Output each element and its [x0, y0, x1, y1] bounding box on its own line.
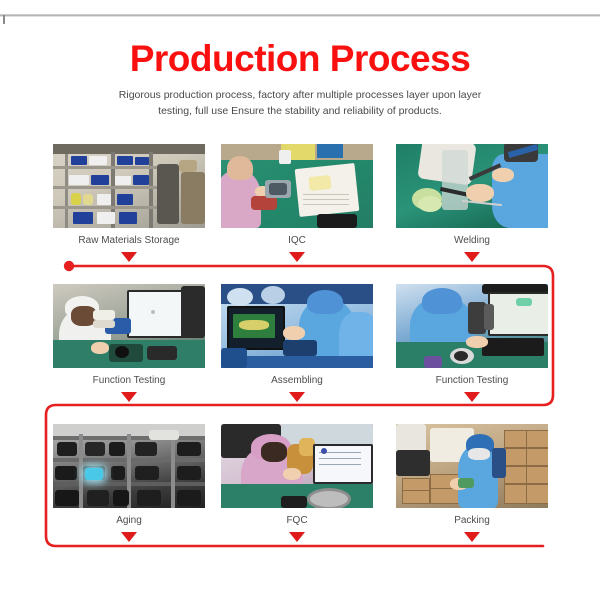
scene-function-testing-2	[396, 284, 548, 368]
process-step-welding[interactable]: Welding	[396, 144, 548, 262]
subtitle-line-2: testing, full use Ensure the stability a…	[158, 105, 442, 117]
step-photo	[221, 144, 373, 228]
step-label: Assembling	[221, 375, 373, 387]
scene-aging-racks	[53, 424, 205, 508]
process-step-aging[interactable]: Aging	[53, 424, 205, 542]
down-triangle-icon	[121, 252, 137, 262]
step-label: FQC	[221, 515, 373, 527]
down-triangle-icon	[464, 532, 480, 542]
scene-packing	[396, 424, 548, 508]
step-label: Welding	[396, 235, 548, 247]
process-row-2: Function Testing	[0, 284, 600, 404]
scene-assembling	[221, 284, 373, 368]
process-step-fqc[interactable]: FQC	[221, 424, 373, 542]
down-triangle-icon	[121, 392, 137, 402]
scene-warehouse-shelves	[53, 144, 205, 228]
step-label: Packing	[396, 515, 548, 527]
top-divider	[0, 14, 600, 17]
step-label: Aging	[53, 515, 205, 527]
subtitle-line-1: Rigorous production process, factory aft…	[119, 89, 481, 101]
process-row-3: Aging	[0, 424, 600, 544]
down-triangle-icon	[289, 252, 305, 262]
scene-fqc-inspection	[221, 424, 373, 508]
step-photo	[53, 424, 205, 508]
scene-welding	[396, 144, 548, 228]
page-title: Production Process	[0, 38, 600, 80]
process-step-assembling[interactable]: Assembling	[221, 284, 373, 402]
page-subtitle: Rigorous production process, factory aft…	[80, 88, 520, 119]
process-step-iqc[interactable]: IQC	[221, 144, 373, 262]
step-photo	[396, 424, 548, 508]
step-photo	[221, 284, 373, 368]
down-triangle-icon	[121, 532, 137, 542]
production-process-page: Production Process Rigorous production p…	[0, 0, 600, 600]
step-photo	[396, 284, 548, 368]
down-triangle-icon	[464, 252, 480, 262]
down-triangle-icon	[464, 392, 480, 402]
process-step-function-testing-2[interactable]: Function Testing	[396, 284, 548, 402]
scene-function-testing-1	[53, 284, 205, 368]
process-step-function-testing-1[interactable]: Function Testing	[53, 284, 205, 402]
scene-iqc-inspection	[221, 144, 373, 228]
step-label: Raw Materials Storage	[53, 235, 205, 247]
process-step-packing[interactable]: Packing	[396, 424, 548, 542]
step-photo	[221, 424, 373, 508]
step-label: IQC	[221, 235, 373, 247]
process-step-raw-materials-storage[interactable]: Raw Materials Storage	[53, 144, 205, 262]
process-row-1: Raw Materials Storage	[0, 144, 600, 264]
down-triangle-icon	[289, 532, 305, 542]
top-divider-tick	[3, 15, 5, 24]
step-photo	[53, 144, 205, 228]
step-photo	[396, 144, 548, 228]
step-label: Function Testing	[396, 375, 548, 387]
step-label: Function Testing	[53, 375, 205, 387]
step-photo	[53, 284, 205, 368]
down-triangle-icon	[289, 392, 305, 402]
